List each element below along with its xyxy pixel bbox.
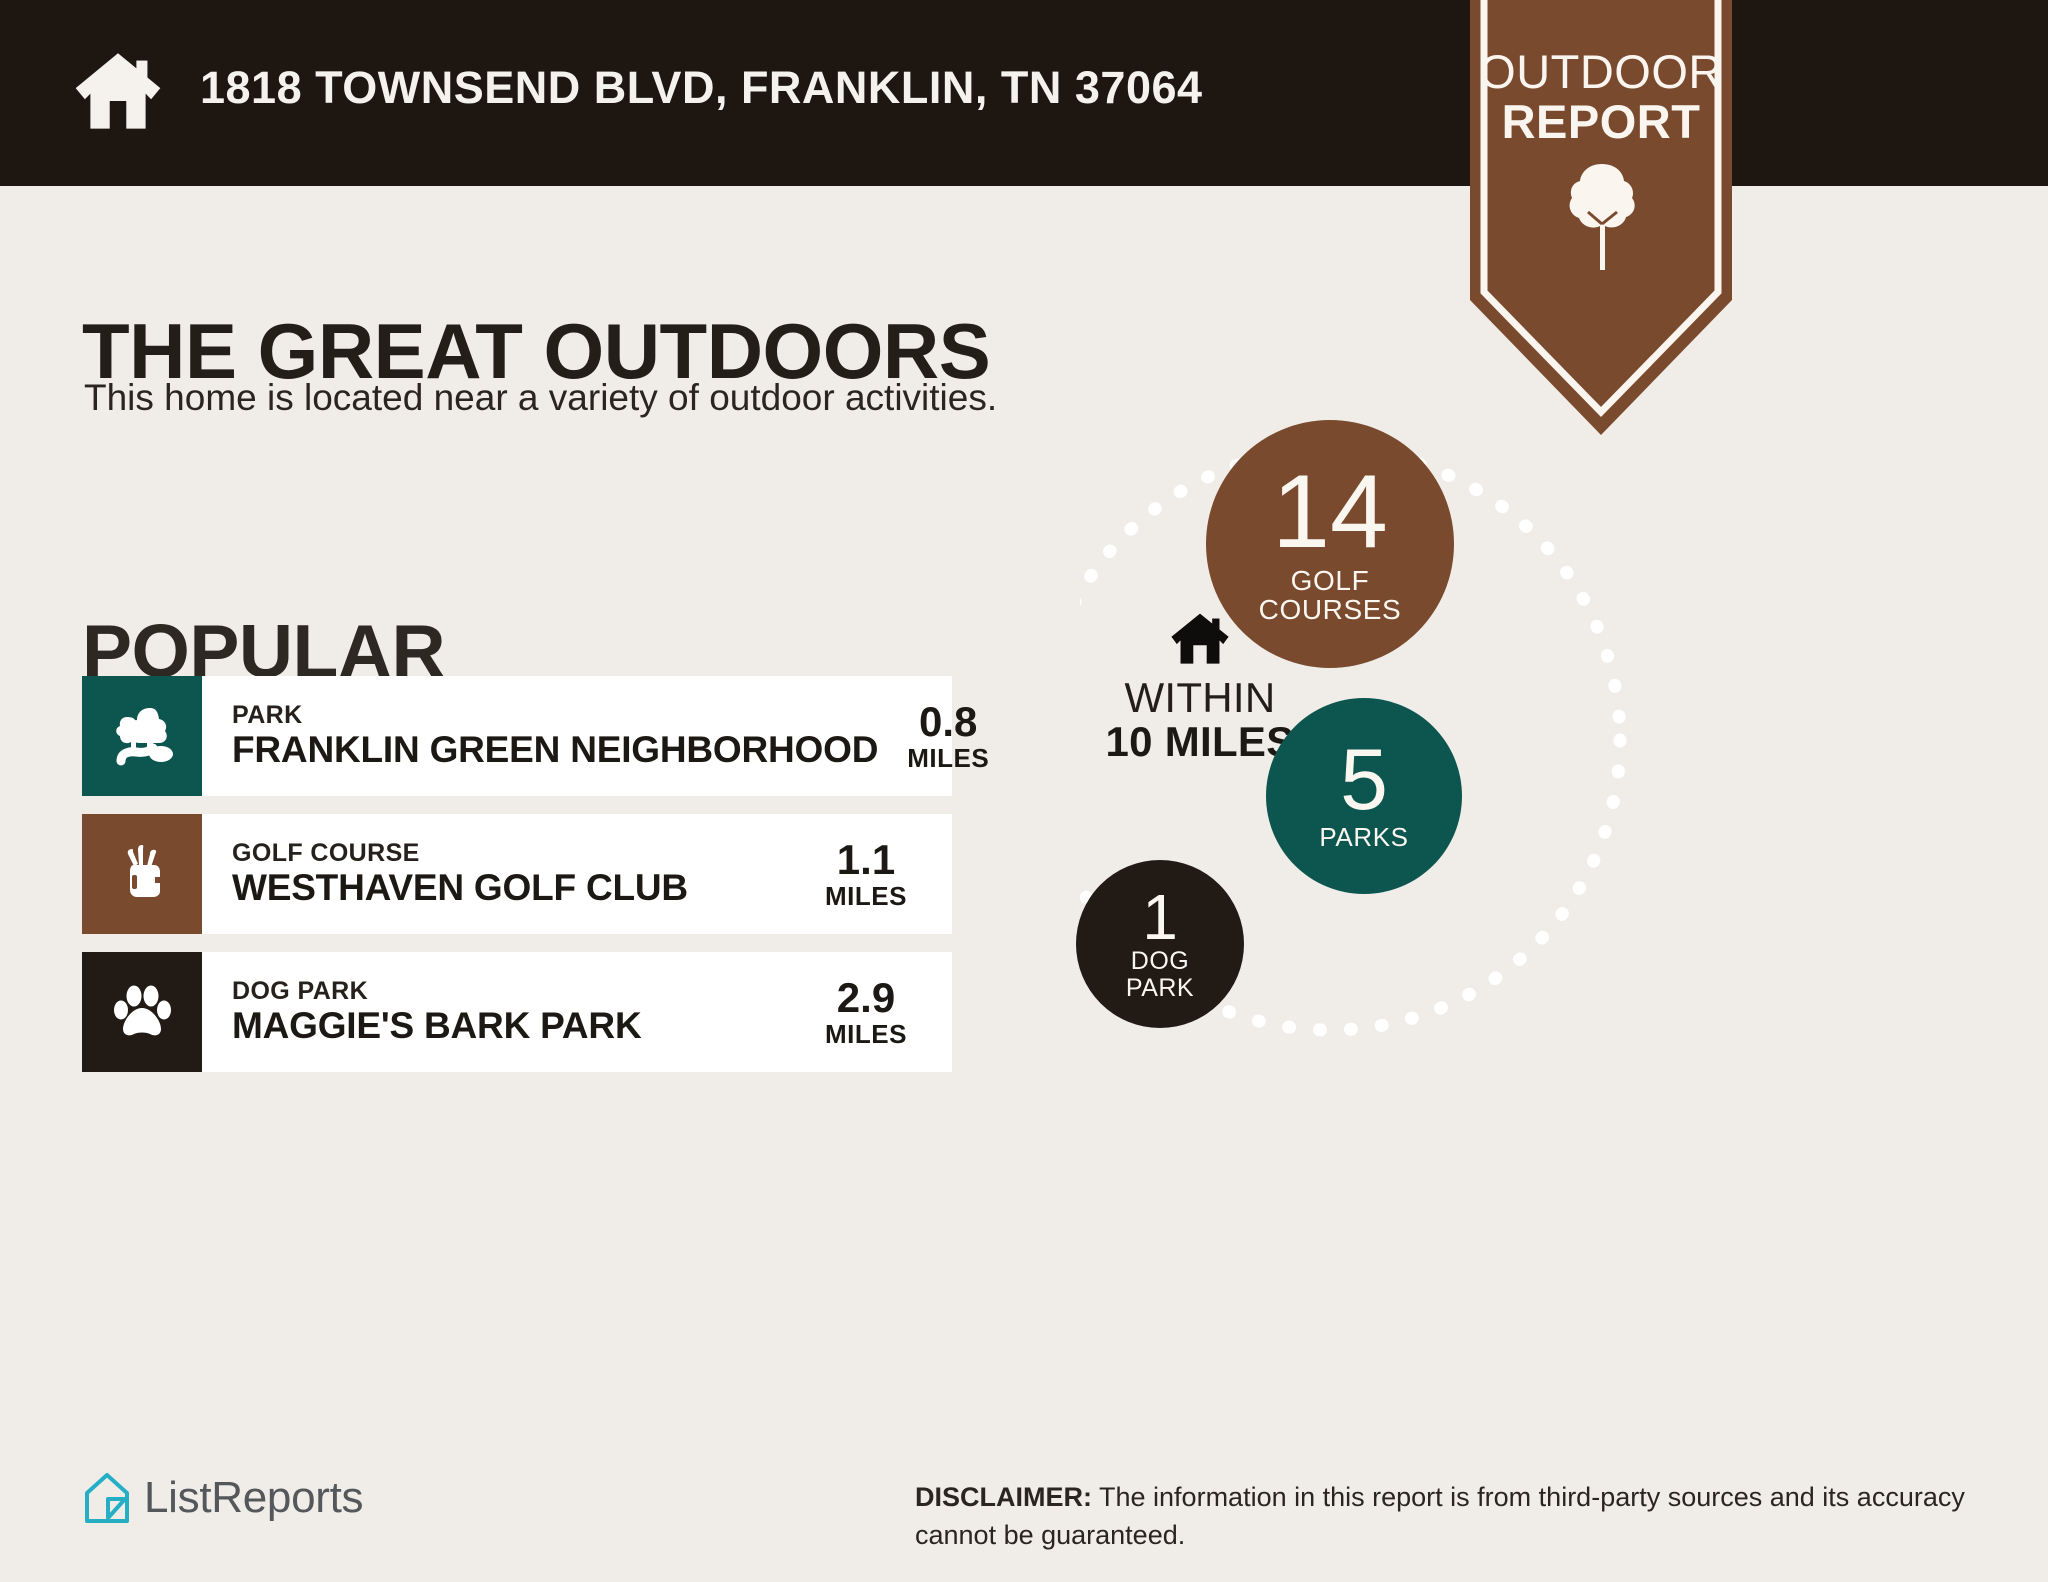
stat-circle-dog-park[interactable]: 1 DOG PARK bbox=[1076, 860, 1244, 1028]
stat-count: 14 bbox=[1272, 463, 1388, 562]
trees-icon bbox=[109, 701, 175, 772]
listreports-wordmark: ListReports bbox=[144, 1473, 363, 1523]
poi-icon-tile bbox=[82, 676, 202, 796]
poi-distance-unit: MILES bbox=[825, 1020, 907, 1049]
poi-distance-unit: MILES bbox=[907, 744, 989, 773]
poi-text-block: DOG PARK MAGGIE'S BARK PARK bbox=[202, 952, 796, 1072]
stat-label-line1: DOG bbox=[1126, 948, 1194, 975]
outdoor-report-infographic: 1818 TOWNSEND BLVD, FRANKLIN, TN 37064 O… bbox=[0, 0, 2048, 1582]
paw-icon bbox=[109, 977, 175, 1048]
poi-distance-block: 1.1 MILES bbox=[796, 814, 952, 934]
badge-title-line1: OUTDOOR bbox=[1470, 48, 1732, 95]
poi-distance-value: 1.1 bbox=[837, 838, 895, 882]
listreports-house-icon bbox=[84, 1472, 130, 1524]
stat-label: DOG PARK bbox=[1126, 948, 1194, 1001]
home-icon bbox=[72, 44, 164, 136]
list-item[interactable]: PARK FRANKLIN GREEN NEIGHBORHOOD 0.8 MIL… bbox=[82, 676, 952, 796]
listreports-logo[interactable]: ListReports bbox=[84, 1472, 363, 1524]
poi-distance-value: 0.8 bbox=[919, 700, 977, 744]
poi-distance-block: 0.8 MILES bbox=[878, 676, 1034, 796]
poi-distance-block: 2.9 MILES bbox=[796, 952, 952, 1072]
amenities-diagram: WITHIN 10 MILES 14 GOLF COURSES 5 PARKS … bbox=[1080, 420, 1980, 1180]
stat-label-line2: PARK bbox=[1126, 975, 1194, 1002]
poi-name: FRANKLIN GREEN NEIGHBORHOOD bbox=[232, 730, 878, 771]
stat-label: PARKS bbox=[1319, 824, 1408, 852]
tree-icon bbox=[1567, 162, 1637, 272]
stat-label-line1: PARKS bbox=[1319, 824, 1408, 852]
property-address: 1818 TOWNSEND BLVD, FRANKLIN, TN 37064 bbox=[200, 62, 1203, 114]
stat-circle-golf-courses[interactable]: 14 GOLF COURSES bbox=[1206, 420, 1454, 668]
stat-circle-parks[interactable]: 5 PARKS bbox=[1266, 698, 1462, 894]
stat-label-line1: GOLF bbox=[1259, 566, 1402, 596]
poi-category: PARK bbox=[232, 701, 878, 730]
stat-count: 5 bbox=[1340, 740, 1388, 822]
poi-distance-unit: MILES bbox=[825, 882, 907, 911]
poi-name: MAGGIE'S BARK PARK bbox=[232, 1006, 796, 1047]
outdoor-report-badge: OUTDOOR REPORT bbox=[1470, 0, 1732, 435]
poi-text-block: GOLF COURSE WESTHAVEN GOLF CLUB bbox=[202, 814, 796, 934]
page-subtitle: This home is located near a variety of o… bbox=[84, 377, 997, 419]
poi-category: DOG PARK bbox=[232, 977, 796, 1006]
poi-name: WESTHAVEN GOLF CLUB bbox=[232, 868, 796, 909]
poi-distance-value: 2.9 bbox=[837, 976, 895, 1020]
poi-text-block: PARK FRANKLIN GREEN NEIGHBORHOOD bbox=[202, 676, 878, 796]
header-bar: 1818 TOWNSEND BLVD, FRANKLIN, TN 37064 bbox=[0, 0, 2048, 186]
stat-label: GOLF COURSES bbox=[1259, 566, 1402, 625]
stat-count: 1 bbox=[1142, 887, 1178, 948]
list-item[interactable]: DOG PARK MAGGIE'S BARK PARK 2.9 MILES bbox=[82, 952, 952, 1072]
within-line2: 10 MILES bbox=[1105, 720, 1294, 764]
badge-title-line2: REPORT bbox=[1470, 98, 1732, 145]
popular-poi-list: PARK FRANKLIN GREEN NEIGHBORHOOD 0.8 MIL… bbox=[82, 676, 952, 1090]
home-icon bbox=[1169, 610, 1231, 666]
disclaimer: DISCLAIMER: The information in this repo… bbox=[915, 1478, 1985, 1555]
poi-icon-tile bbox=[82, 814, 202, 934]
stat-label-line2: COURSES bbox=[1259, 595, 1402, 625]
golf-bag-icon bbox=[109, 839, 175, 910]
poi-category: GOLF COURSE bbox=[232, 839, 796, 868]
disclaimer-label: DISCLAIMER: bbox=[915, 1482, 1092, 1512]
list-item[interactable]: GOLF COURSE WESTHAVEN GOLF CLUB 1.1 MILE… bbox=[82, 814, 952, 934]
within-line1: WITHIN bbox=[1124, 676, 1275, 720]
poi-icon-tile bbox=[82, 952, 202, 1072]
